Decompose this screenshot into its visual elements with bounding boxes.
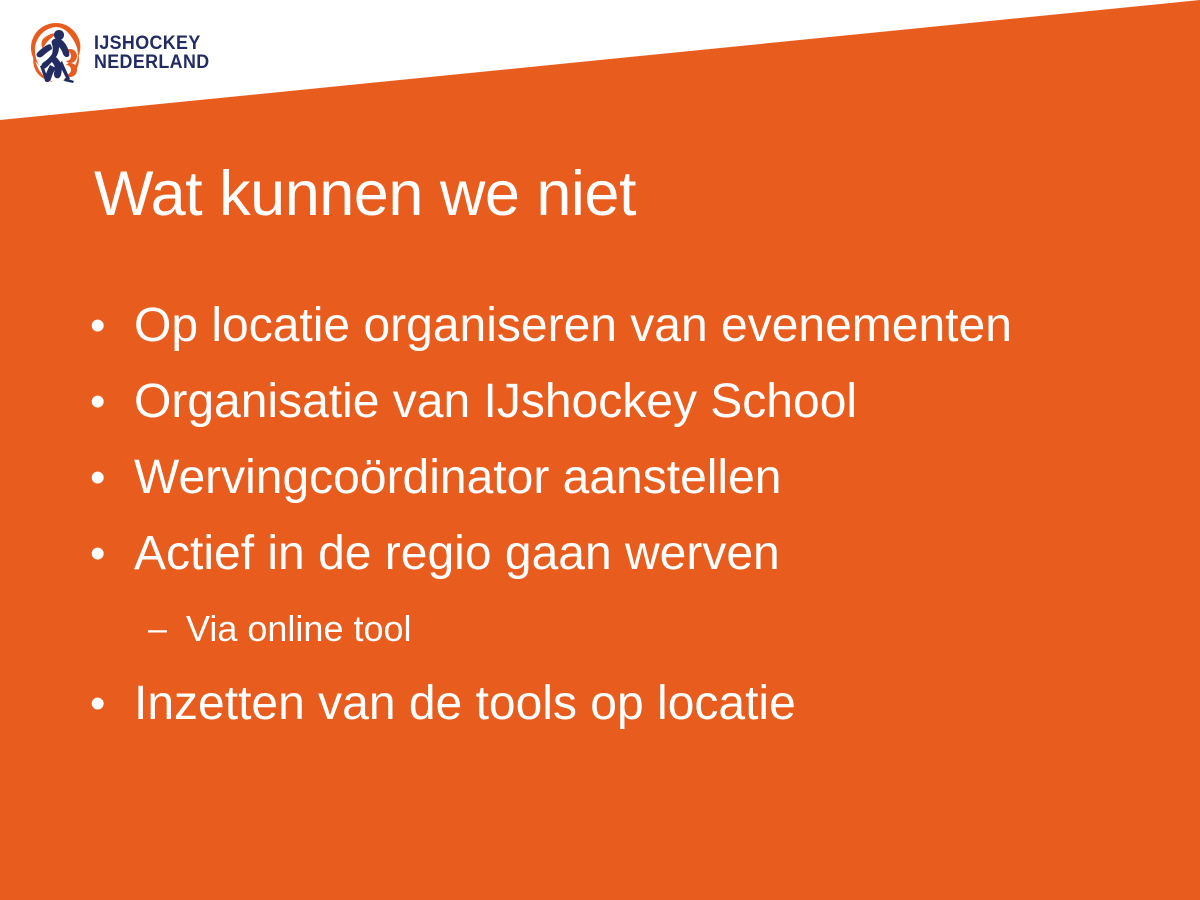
bullet-dot-icon: •: [90, 666, 134, 742]
list-item: • Inzetten van de tools op locatie: [90, 666, 1160, 742]
logo-line-nederland: NEDERLAND: [94, 53, 210, 72]
bullet-dash-icon: –: [148, 592, 186, 666]
list-item: • Wervingcoördinator aanstellen: [90, 440, 1160, 516]
presentation-slide: IJSHOCKEY NEDERLAND Wat kunnen we niet •…: [0, 0, 1200, 900]
slide-title: Wat kunnen we niet: [94, 160, 1114, 228]
list-item-text: Actief in de regio gaan werven: [134, 516, 1160, 592]
bullet-dot-icon: •: [90, 288, 134, 364]
bullet-list: • Op locatie organiseren van evenementen…: [90, 288, 1160, 742]
bullet-dot-icon: •: [90, 364, 134, 440]
hockey-player-logo-icon: [26, 21, 88, 85]
logo-wordmark: IJSHOCKEY NEDERLAND: [94, 34, 217, 72]
bullet-dot-icon: •: [90, 440, 134, 516]
bullet-dot-icon: •: [90, 516, 134, 592]
list-item: • Actief in de regio gaan werven: [90, 516, 1160, 592]
list-item: • Op locatie organiseren van evenementen: [90, 288, 1160, 364]
sub-list-item: – Via online tool: [148, 592, 1160, 666]
logo-line-ijshockey: IJSHOCKEY: [94, 34, 210, 53]
list-item-text: Wervingcoördinator aanstellen: [134, 440, 1160, 516]
list-item-text: Op locatie organiseren van evenementen: [134, 288, 1160, 364]
sub-list-item-text: Via online tool: [186, 592, 1160, 666]
ijshockey-nederland-logo: IJSHOCKEY NEDERLAND: [26, 20, 216, 86]
list-item-text: Organisatie van IJshockey School: [134, 364, 1160, 440]
list-item: • Organisatie van IJshockey School: [90, 364, 1160, 440]
list-item-text: Inzetten van de tools op locatie: [134, 666, 1160, 742]
